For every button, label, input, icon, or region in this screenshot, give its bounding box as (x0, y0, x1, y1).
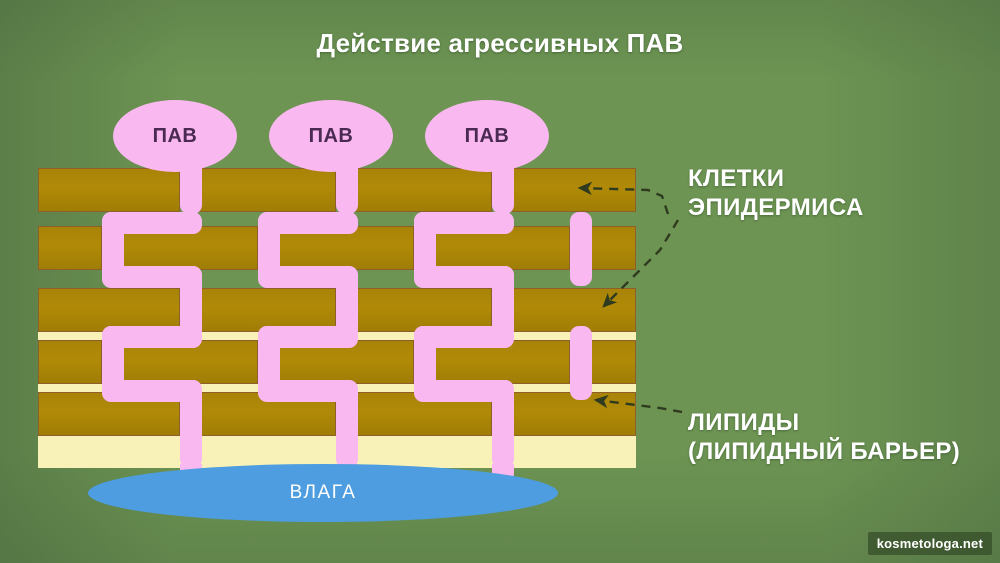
label-line: (ЛИПИДНЫЙ БАРЬЕР) (688, 437, 960, 466)
label-line: КЛЕТКИ (688, 164, 864, 193)
label-epidermis-cells: КЛЕТКИ ЭПИДЕРМИСА (688, 164, 864, 223)
label-lipids: ЛИПИДЫ (ЛИПИДНЫЙ БАРЬЕР) (688, 408, 960, 467)
annotation-arrows (0, 0, 1000, 563)
label-line: ЭПИДЕРМИСА (688, 193, 864, 222)
watermark: kosmetologa.net (868, 532, 992, 555)
arrow-cells-top (580, 188, 668, 214)
arrow-cells-mid (604, 220, 678, 306)
slide-canvas: Действие агрессивных ПАВ (0, 0, 1000, 563)
label-line: ЛИПИДЫ (688, 408, 960, 437)
arrow-lipids (596, 400, 682, 412)
